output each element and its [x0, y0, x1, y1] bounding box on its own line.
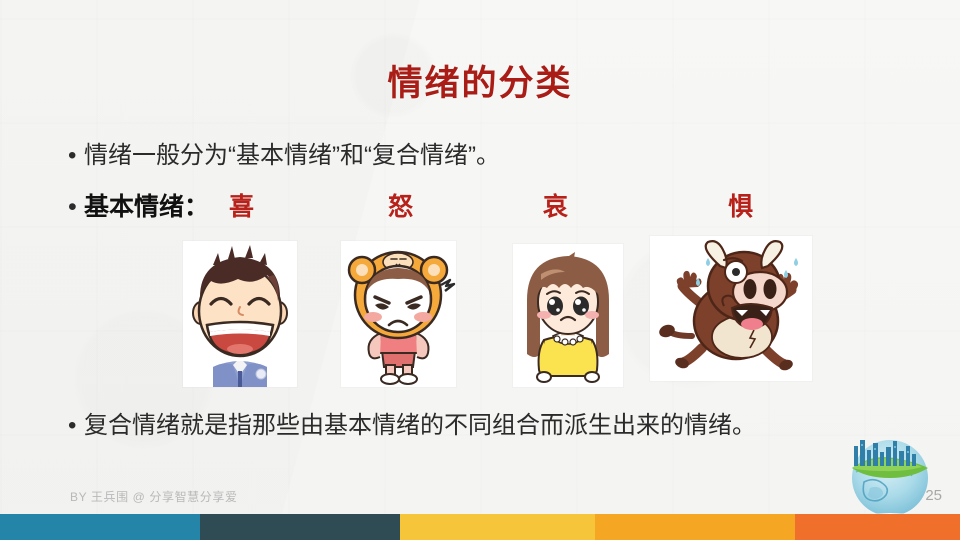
angry-girl-bear-hoodie-cartoon-icon: [341, 241, 456, 387]
emotion-label-fear: 惧: [728, 190, 753, 224]
bar-segment-yellow: [400, 514, 595, 540]
frightened-bull-cartoon-icon: [650, 236, 812, 381]
bullet-1-text: 情绪一般分为“基本情绪”和“复合情绪”。: [84, 142, 500, 169]
bullet-item-3: •复合情绪就是指那些由基本情绪的不同组合而派生出来的情绪。: [68, 409, 756, 443]
byline-text: BY 王兵围 @ 分享智慧分享爱: [70, 488, 238, 505]
slide-canvas: 情绪的分类 •情绪一般分为“基本情绪”和“复合情绪”。 •基本情绪： 喜 怒 哀…: [0, 0, 960, 540]
bullet-3-text: 复合情绪就是指那些由基本情绪的不同组合而派生出来的情绪。: [84, 412, 756, 439]
emotion-label-sorrow: 哀: [543, 190, 568, 224]
bottom-color-bar: [0, 514, 960, 540]
emotion-image-sorrow: [513, 244, 623, 387]
page-number: 25: [925, 487, 942, 504]
emotion-label-joy: 喜: [229, 190, 254, 224]
emotion-image-anger: [341, 241, 456, 387]
emotion-image-fear: [650, 236, 812, 381]
bullet-dot-icon: •: [68, 409, 84, 443]
bar-segment-orange: [595, 514, 795, 540]
bar-segment-dark-slate: [200, 514, 400, 540]
page-title: 情绪的分类: [0, 62, 960, 106]
emotion-image-joy: [183, 241, 297, 387]
bar-segment-teal: [0, 514, 200, 540]
bullet-dot-icon: •: [68, 139, 84, 173]
bullet-item-1: •情绪一般分为“基本情绪”和“复合情绪”。: [68, 139, 500, 173]
bar-segment-deep-orange: [795, 514, 960, 540]
basic-emotion-labels: 喜 怒 哀 惧: [0, 190, 960, 226]
emotion-label-anger: 怒: [388, 190, 413, 224]
laughing-boy-cartoon-icon: [183, 241, 297, 387]
sad-girl-yellow-shirt-cartoon-icon: [513, 244, 623, 387]
